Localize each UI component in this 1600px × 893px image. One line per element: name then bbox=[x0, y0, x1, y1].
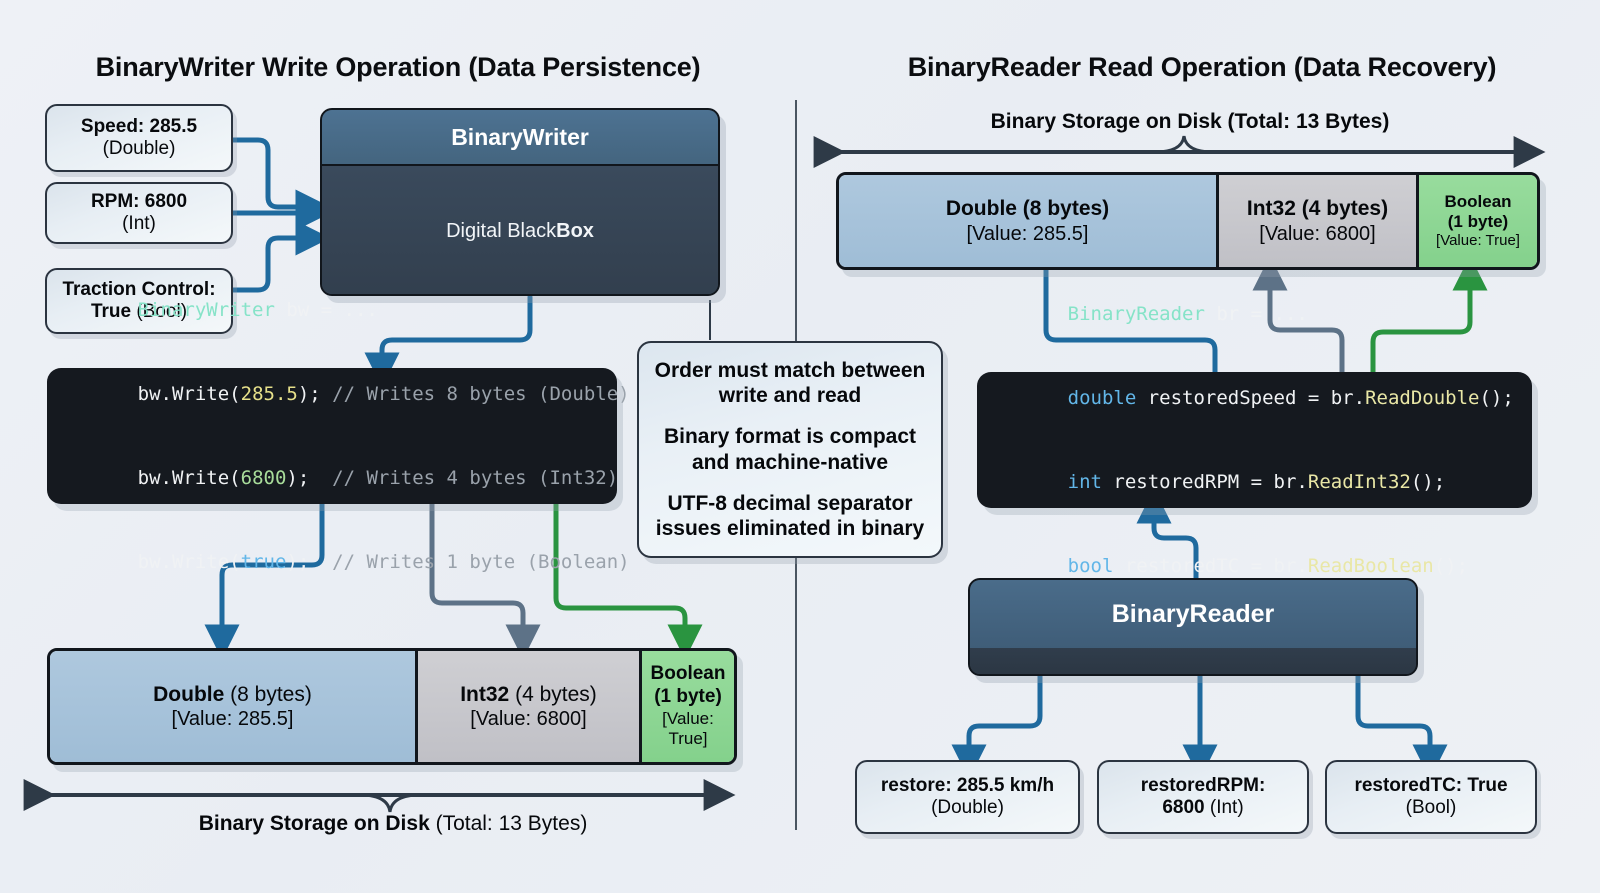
segment-double-size: (8 bytes) bbox=[230, 683, 312, 706]
segment-boolean-size: (1 byte) bbox=[654, 686, 722, 709]
code-token-type: BinaryWriter bbox=[138, 299, 275, 321]
code-token-method: ReadInt32 bbox=[1308, 471, 1411, 493]
segment-int32-value: [Value: 6800] bbox=[470, 707, 586, 731]
note-item-2: Binary format is compact and machine-nat… bbox=[653, 424, 927, 474]
writer-code-line-1: BinaryWriter bw = ... bbox=[69, 268, 595, 352]
note-item-1: Order must match between write and read bbox=[653, 358, 927, 408]
writer-code-line-4: bw.Write(true); // Writes 1 byte (Boolea… bbox=[69, 520, 595, 604]
output-traction-type: (Bool) bbox=[1406, 797, 1457, 819]
right-segment-boolean-value: [Value: True] bbox=[1436, 232, 1520, 250]
code-token-comment: // Writes 8 bytes (Double) bbox=[332, 383, 629, 405]
right-storage-caption-text: Binary Storage on Disk (Total: 13 Bytes) bbox=[991, 110, 1390, 133]
right-segment-double-value: [Value: 285.5] bbox=[967, 222, 1089, 246]
note-item-3: UTF-8 decimal separator issues eliminate… bbox=[653, 491, 927, 541]
input-speed-main: Speed: 285.5 bbox=[81, 116, 197, 138]
code-token-rest: br = ... bbox=[1205, 303, 1308, 325]
left-storage-caption: Binary Storage on Disk (Total: 13 Bytes) bbox=[0, 812, 786, 836]
output-box-traction: restoredTC: True (Bool) bbox=[1325, 760, 1537, 834]
code-token-variable: restoredSpeed = br. bbox=[1136, 387, 1365, 409]
right-segment-int32-name: Int32 (4 bytes) bbox=[1247, 196, 1388, 221]
code-token-rest: bw = ... bbox=[275, 299, 378, 321]
segment-boolean-name: Boolean bbox=[651, 663, 726, 686]
output-rpm-value: 6800 bbox=[1162, 797, 1204, 818]
binarywriter-body-strong: Box bbox=[556, 220, 594, 243]
segment-double-value: [Value: 285.5] bbox=[172, 707, 294, 731]
code-token-paren: ( bbox=[229, 467, 240, 489]
output-speed-main: restore: 285.5 km/h bbox=[881, 775, 1054, 797]
writer-code-block: BinaryWriter bw = ... bw.Write(285.5); /… bbox=[47, 368, 617, 504]
right-segment-boolean-name-a: Boolean bbox=[1444, 192, 1511, 212]
input-rpm-type: (Int) bbox=[122, 213, 156, 235]
left-storage-caption-rest: (Total: 13 Bytes) bbox=[430, 812, 588, 835]
code-token-paren2: ); bbox=[286, 551, 332, 573]
code-token-keyword: true bbox=[241, 551, 287, 573]
storage-segment-boolean: Boolean (1 byte) [Value: True] bbox=[639, 651, 734, 762]
code-token-number: 6800 bbox=[241, 467, 287, 489]
left-storage-caption-bold: Binary Storage on Disk bbox=[199, 812, 430, 835]
right-storage-caption: Binary Storage on Disk (Total: 13 Bytes) bbox=[840, 110, 1540, 134]
code-token-paren2: ); bbox=[286, 467, 332, 489]
right-segment-boolean-name-b: (1 byte) bbox=[1448, 212, 1508, 232]
binaryreader-header: BinaryReader bbox=[970, 580, 1416, 648]
code-token-obj: bw. bbox=[138, 551, 172, 573]
segment-double-title: Double (8 bytes) bbox=[153, 682, 312, 707]
right-segment-double: Double (8 bytes) [Value: 285.5] bbox=[839, 175, 1216, 267]
binarywriter-header: BinaryWriter bbox=[322, 110, 718, 166]
reader-code-line-3: int restoredRPM = br.ReadInt32(); bbox=[999, 440, 1510, 524]
left-storage-bar: Double (8 bytes) [Value: 285.5] Int32 (4… bbox=[47, 648, 737, 765]
storage-segment-int32: Int32 (4 bytes) [Value: 6800] bbox=[415, 651, 639, 762]
segment-int32-title: Int32 (4 bytes) bbox=[460, 682, 597, 707]
output-rpm-type: 6800 (Int) bbox=[1162, 797, 1243, 819]
code-token-keyword: bool bbox=[1068, 555, 1114, 577]
code-token-end: (); bbox=[1479, 387, 1513, 409]
diagram-canvas: BinaryWriter Write Operation (Data Persi… bbox=[0, 0, 1600, 893]
output-rpm-kind: (Int) bbox=[1205, 797, 1244, 818]
reader-code-line-2: double restoredSpeed = br.ReadDouble(); bbox=[999, 356, 1510, 440]
right-segment-boolean: Boolean (1 byte) [Value: True] bbox=[1416, 175, 1537, 267]
segment-boolean-value-a: [Value: bbox=[662, 709, 714, 729]
output-box-speed: restore: 285.5 km/h (Double) bbox=[855, 760, 1080, 834]
code-token-type: BinaryReader bbox=[1068, 303, 1205, 325]
code-token-method: Write bbox=[172, 551, 229, 573]
binaryreader-component: BinaryReader bbox=[968, 578, 1418, 676]
right-storage-bar: Double (8 bytes) [Value: 285.5] Int32 (4… bbox=[836, 172, 1540, 270]
code-token-paren2: ); bbox=[298, 383, 332, 405]
code-token-obj: bw. bbox=[138, 383, 172, 405]
code-token-method: ReadDouble bbox=[1365, 387, 1479, 409]
code-token-end: (); bbox=[1411, 471, 1445, 493]
segment-double-name: Double bbox=[153, 683, 224, 706]
code-token-keyword: int bbox=[1068, 471, 1102, 493]
binarywriter-body-plain: Digital Black bbox=[446, 220, 556, 243]
notes-callout: Order must match between write and read … bbox=[637, 341, 943, 558]
code-token-comment: // Writes 4 bytes (Int32) bbox=[332, 467, 618, 489]
output-traction-main: restoredTC: True bbox=[1354, 775, 1507, 797]
code-token-obj: bw. bbox=[138, 467, 172, 489]
right-panel-title: BinaryReader Read Operation (Data Recove… bbox=[804, 52, 1600, 83]
segment-boolean-value-b: True] bbox=[668, 729, 707, 749]
reader-code-block: BinaryReader br = ... double restoredSpe… bbox=[977, 372, 1532, 508]
code-token-end: (); bbox=[1434, 555, 1468, 577]
code-token-number: 285.5 bbox=[241, 383, 298, 405]
right-segment-int32-value: [Value: 6800] bbox=[1259, 222, 1375, 246]
reader-code-line-1: BinaryReader br = ... bbox=[999, 272, 1510, 356]
output-box-rpm: restoredRPM: 6800 (Int) bbox=[1097, 760, 1309, 834]
code-token-comment: // Writes 1 byte (Boolean) bbox=[332, 551, 629, 573]
input-speed-type: (Double) bbox=[103, 138, 176, 160]
input-box-rpm: RPM: 6800 (Int) bbox=[45, 182, 233, 244]
left-panel-title: BinaryWriter Write Operation (Data Persi… bbox=[0, 52, 796, 83]
code-token-method: Write bbox=[172, 383, 229, 405]
code-token-paren: ( bbox=[229, 551, 240, 573]
input-rpm-main: RPM: 6800 bbox=[91, 191, 187, 213]
code-token-method: Write bbox=[172, 467, 229, 489]
output-speed-type: (Double) bbox=[931, 797, 1004, 819]
segment-int32-name: Int32 bbox=[460, 683, 509, 706]
code-token-keyword: double bbox=[1068, 387, 1137, 409]
code-token-paren: ( bbox=[229, 383, 240, 405]
writer-code-line-3: bw.Write(6800); // Writes 4 bytes (Int32… bbox=[69, 436, 595, 520]
writer-code-line-2: bw.Write(285.5); // Writes 8 bytes (Doub… bbox=[69, 352, 595, 436]
code-token-method: ReadBoolean bbox=[1308, 555, 1434, 577]
segment-int32-size: (4 bytes) bbox=[515, 683, 597, 706]
binaryreader-body bbox=[970, 648, 1416, 676]
right-segment-int32: Int32 (4 bytes) [Value: 6800] bbox=[1216, 175, 1416, 267]
right-segment-double-name: Double (8 bytes) bbox=[946, 196, 1109, 221]
output-rpm-main: restoredRPM: bbox=[1141, 775, 1266, 797]
code-token-variable: restoredTC = br. bbox=[1113, 555, 1307, 577]
code-token-variable: restoredRPM = br. bbox=[1102, 471, 1308, 493]
input-box-speed: Speed: 285.5 (Double) bbox=[45, 104, 233, 172]
storage-segment-double: Double (8 bytes) [Value: 285.5] bbox=[50, 651, 415, 762]
